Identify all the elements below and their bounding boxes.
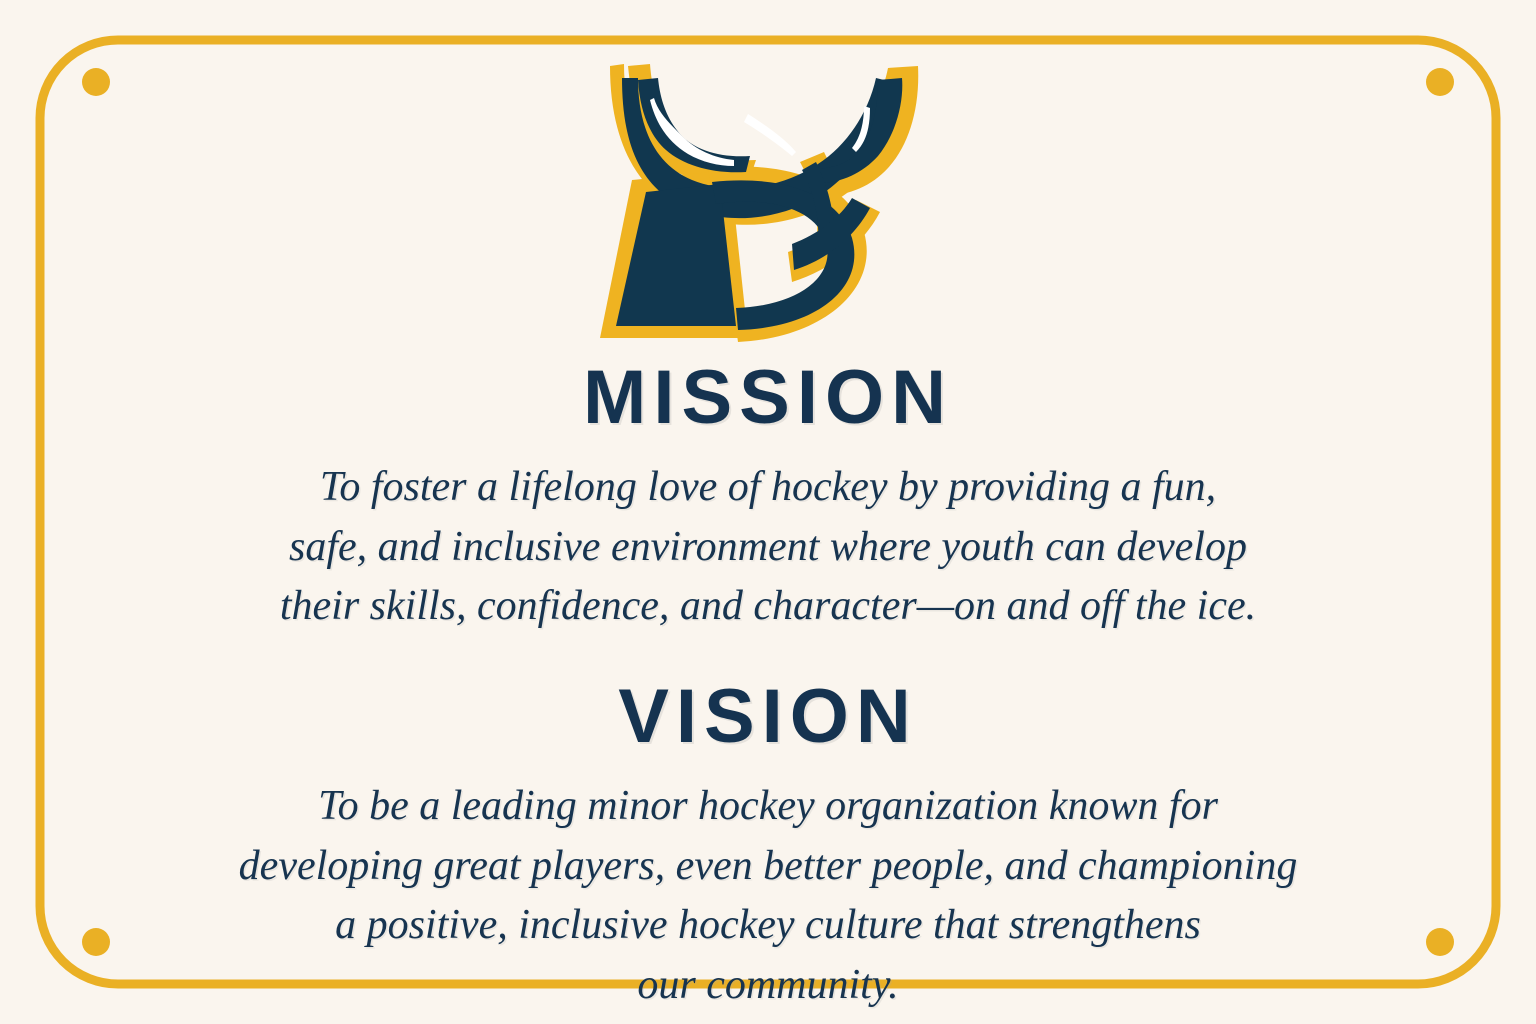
mission-line: To foster a lifelong love of hockey by p… <box>118 458 1418 518</box>
mission-line: their skills, confidence, and character—… <box>118 577 1418 637</box>
vision-line: To be a leading minor hockey organizatio… <box>118 777 1418 837</box>
vision-body: To be a leading minor hockey organizatio… <box>118 777 1418 1016</box>
mission-vision-poster: DV <box>0 0 1536 1024</box>
vision-line: our community. <box>118 956 1418 1016</box>
mission-heading: MISSION <box>583 360 953 436</box>
logo-artwork <box>600 64 918 342</box>
poster-content: DV <box>0 0 1536 1024</box>
mission-line: safe, and inclusive environment where yo… <box>118 518 1418 578</box>
vision-line: a positive, inclusive hockey culture tha… <box>118 896 1418 956</box>
vision-heading: VISION <box>618 679 918 755</box>
vision-line: developing great players, even better pe… <box>118 837 1418 897</box>
dv-bull-logo-icon: DV <box>588 56 948 346</box>
mission-body: To foster a lifelong love of hockey by p… <box>118 458 1418 637</box>
logo-container: DV <box>588 56 948 346</box>
